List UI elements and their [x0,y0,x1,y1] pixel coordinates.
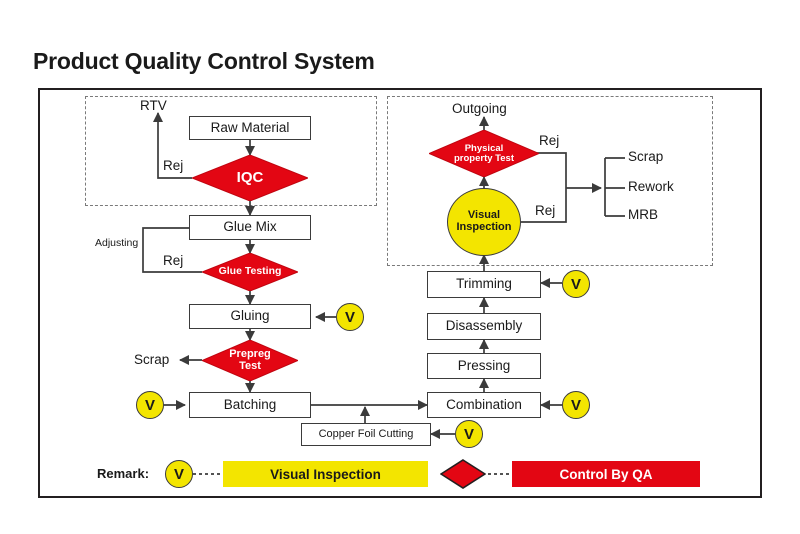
node-visual-inspection-label-line2: Inspection [456,222,511,234]
visual-inspection-marker-combination[interactable]: V [562,391,590,419]
node-gluing-label: Gluing [230,309,269,324]
edge-label-scrap-left: Scrap [134,352,169,367]
edge-label-rej-iqc: Rej [163,158,183,173]
flowchart-canvas: Product Quality Control System [0,0,800,534]
node-combination[interactable]: Combination [427,392,541,418]
node-disassembly[interactable]: Disassembly [427,313,541,340]
node-batching-label: Batching [224,398,277,413]
physical-property-test-diamond-shape [429,130,539,177]
disposition-mrb: MRB [628,207,658,222]
legend-visual-inspection-icon: V [165,460,193,488]
node-iqc[interactable]: IQC [192,155,308,201]
node-trimming-label: Trimming [456,277,512,292]
node-trimming[interactable]: Trimming [427,271,541,298]
node-physical-property-test[interactable]: Physical property Test [429,130,539,177]
v-symbol: V [174,466,184,483]
legend-control-by-qa-icon [440,459,486,489]
node-batching[interactable]: Batching [189,392,311,418]
v-symbol: V [464,426,474,443]
visual-inspection-marker-batching[interactable]: V [136,391,164,419]
legend-visual-inspection-text: Visual Inspection [270,467,381,482]
edge-label-rej-glue: Rej [163,253,183,268]
legend-remark-label: Remark: [97,466,149,481]
outgoing-label: Outgoing [452,101,507,116]
node-raw-material-label: Raw Material [211,121,290,136]
v-symbol: V [345,309,355,326]
visual-inspection-marker-gluing[interactable]: V [336,303,364,331]
glue-testing-diamond-shape [202,253,298,291]
disposition-rework: Rework [628,179,674,194]
node-glue-mix[interactable]: Glue Mix [189,215,311,240]
iqc-diamond-shape [192,155,308,201]
prepreg-test-diamond-shape [202,340,298,381]
rtv-label: RTV [140,98,167,113]
legend-control-by-qa-bar: Control By QA [512,461,700,487]
node-gluing[interactable]: Gluing [189,304,311,329]
node-combination-label: Combination [446,398,522,413]
node-prepreg-test[interactable]: Prepreg Test [202,340,298,381]
node-copper-foil-cutting-label: Copper Foil Cutting [319,429,414,441]
v-symbol: V [571,397,581,414]
page-title: Product Quality Control System [33,48,375,75]
node-glue-mix-label: Glue Mix [223,220,276,235]
node-visual-inspection[interactable]: Visual Inspection [447,188,521,256]
node-copper-foil-cutting[interactable]: Copper Foil Cutting [301,423,431,446]
node-glue-testing[interactable]: Glue Testing [202,253,298,291]
edge-label-adjusting: Adjusting [95,237,138,249]
visual-inspection-marker-trimming[interactable]: V [562,270,590,298]
edge-label-rej-visual: Rej [535,203,555,218]
node-pressing[interactable]: Pressing [427,353,541,379]
legend-visual-inspection-bar: Visual Inspection [223,461,428,487]
legend-control-by-qa-text: Control By QA [560,467,653,482]
node-pressing-label: Pressing [458,359,511,374]
disposition-scrap: Scrap [628,149,663,164]
visual-inspection-marker-copper-foil[interactable]: V [455,420,483,448]
node-disassembly-label: Disassembly [446,319,523,334]
v-symbol: V [571,276,581,293]
node-raw-material[interactable]: Raw Material [189,116,311,140]
edge-label-rej-physical: Rej [539,133,559,148]
v-symbol: V [145,397,155,414]
